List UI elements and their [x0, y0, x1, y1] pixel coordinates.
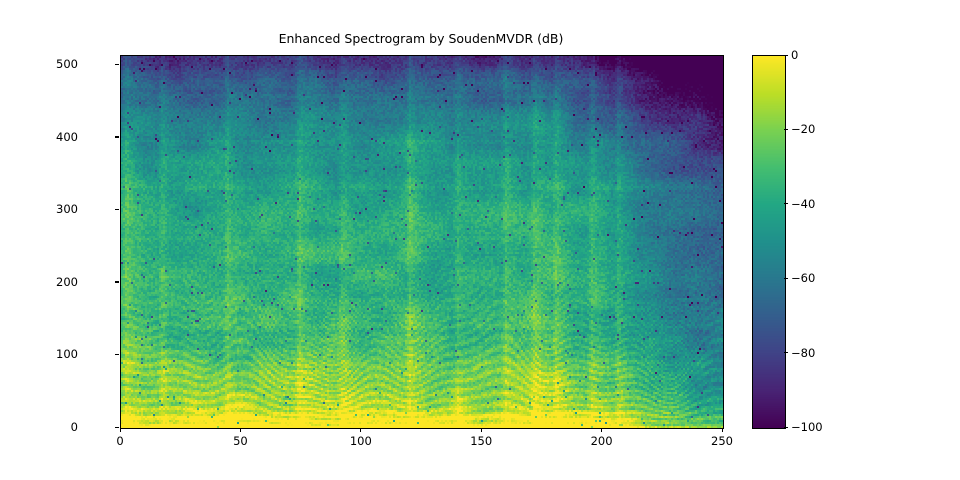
y-tick-label: 100	[56, 347, 78, 361]
x-tick-mark	[722, 428, 723, 432]
colorbar-tick-mark	[784, 203, 788, 204]
y-tick-mark	[115, 281, 119, 282]
y-tick-mark	[115, 354, 119, 355]
x-tick-mark	[120, 428, 121, 432]
colorbar	[752, 55, 786, 429]
y-tick-label: 500	[56, 57, 78, 71]
colorbar-gradient	[753, 56, 785, 428]
x-tick-mark	[601, 428, 602, 432]
y-tick-label: 300	[56, 202, 78, 216]
page-title: Enhanced Spectrogram by SoudenMVDR (dB)	[120, 31, 722, 46]
x-tick-label: 200	[591, 434, 613, 448]
y-tick-mark	[115, 427, 119, 428]
colorbar-tick-mark	[784, 55, 788, 56]
y-tick-mark	[115, 136, 119, 137]
y-tick-label: 200	[56, 275, 78, 289]
x-tick-label: 250	[711, 434, 733, 448]
x-tick-label: 50	[233, 434, 248, 448]
colorbar-tick-label: −40	[791, 197, 815, 211]
colorbar-tick-mark	[784, 427, 788, 428]
x-tick-mark	[481, 428, 482, 432]
y-tick-label: 400	[56, 130, 78, 144]
x-tick-mark	[240, 428, 241, 432]
x-tick-label: 0	[116, 434, 123, 448]
colorbar-tick-label: 0	[791, 48, 798, 62]
colorbar-tick-label: −20	[791, 122, 815, 136]
colorbar-tick-label: −100	[791, 420, 823, 434]
x-tick-label: 150	[470, 434, 492, 448]
x-tick-mark	[360, 428, 361, 432]
x-tick-label: 100	[350, 434, 372, 448]
colorbar-tick-label: −80	[791, 346, 815, 360]
colorbar-tick-mark	[784, 129, 788, 130]
y-tick-mark	[115, 64, 119, 65]
colorbar-tick-label: −60	[791, 271, 815, 285]
y-tick-label: 0	[71, 420, 78, 434]
y-tick-mark	[115, 209, 119, 210]
spectrogram-axes	[120, 55, 724, 429]
spectrogram-image	[121, 56, 723, 428]
matplotlib-figure: Enhanced Spectrogram by SoudenMVDR (dB) …	[0, 0, 960, 480]
colorbar-tick-mark	[784, 352, 788, 353]
colorbar-tick-mark	[784, 278, 788, 279]
